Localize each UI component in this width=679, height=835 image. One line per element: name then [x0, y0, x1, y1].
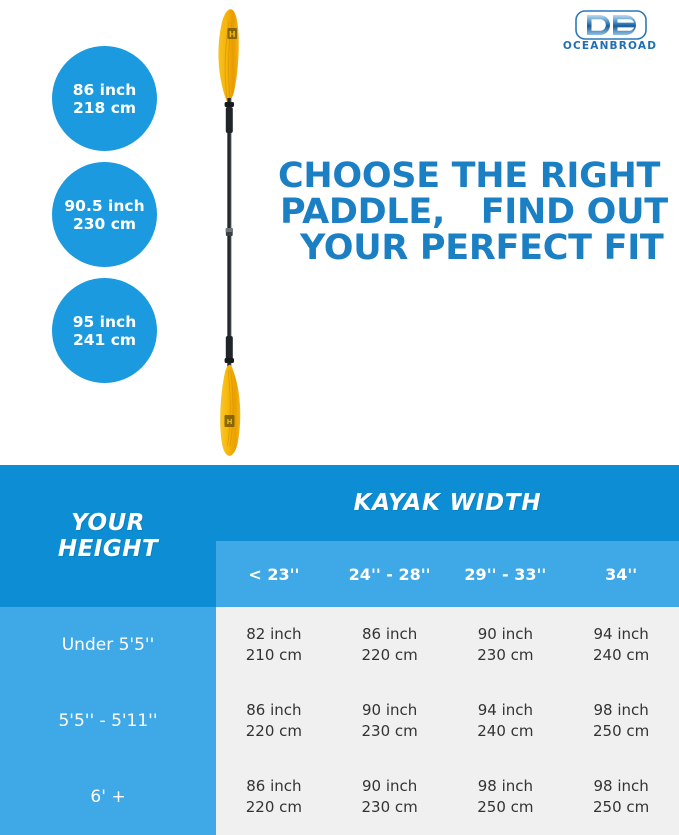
length-circle: 95 inch 241 cm: [52, 278, 157, 383]
paddle-length-cell: 90 inch 230 cm: [332, 759, 448, 835]
length-circle: 90.5 inch 230 cm: [52, 162, 157, 267]
paddle-length-cell: 86 inch 220 cm: [216, 759, 332, 835]
brand-name: OCEANBROAD: [557, 40, 663, 52]
width-column-header: 24'' - 28'': [332, 541, 448, 607]
height-range-label: Under 5'5'': [0, 607, 216, 683]
paddle-length-cell: 98 inch 250 cm: [563, 759, 679, 835]
paddle-length-cell: 82 inch 210 cm: [216, 607, 332, 683]
cell-inch: 86 inch: [216, 700, 332, 721]
table-header-row: YOUR HEIGHT KAYAK WIDTH: [0, 465, 679, 541]
cell-inch: 98 inch: [563, 700, 679, 721]
cell-cm: 240 cm: [448, 721, 564, 742]
svg-text:H: H: [227, 418, 233, 426]
cell-inch: 86 inch: [332, 624, 448, 645]
width-column-header: 34'': [563, 541, 679, 607]
cell-inch: 86 inch: [216, 776, 332, 797]
your-height-line-2: HEIGHT: [58, 536, 158, 562]
cell-cm: 230 cm: [332, 797, 448, 818]
cell-cm: 250 cm: [563, 797, 679, 818]
brand-logo: OCEANBROAD: [557, 10, 663, 56]
your-height-line-1: YOUR: [71, 510, 145, 536]
cell-inch: 94 inch: [563, 624, 679, 645]
cell-cm: 220 cm: [216, 797, 332, 818]
length-circle-cm: 218 cm: [73, 99, 136, 117]
paddle-length-cell: 90 inch 230 cm: [332, 683, 448, 759]
paddle-length-cell: 94 inch 240 cm: [448, 683, 564, 759]
headline-line-2: PADDLE, FIND OUT: [278, 194, 670, 230]
paddle-length-cell: 90 inch 230 cm: [448, 607, 564, 683]
kayak-width-header: KAYAK WIDTH: [216, 465, 679, 541]
cell-inch: 90 inch: [332, 700, 448, 721]
cell-cm: 240 cm: [563, 645, 679, 666]
paddle-length-cell: 98 inch 250 cm: [448, 759, 564, 835]
cell-inch: 82 inch: [216, 624, 332, 645]
table-row: 5'5'' - 5'11'' 86 inch 220 cm 90 inch 23…: [0, 683, 679, 759]
cell-cm: 230 cm: [448, 645, 564, 666]
cell-cm: 250 cm: [563, 721, 679, 742]
cell-cm: 230 cm: [332, 721, 448, 742]
cell-inch: 98 inch: [448, 776, 564, 797]
width-column-header: < 23'': [216, 541, 332, 607]
paddle-sizing-table: YOUR HEIGHT KAYAK WIDTH < 23'' 24'' - 28…: [0, 465, 679, 835]
page-title: CHOOSE THE RIGHT PADDLE, FIND OUT YOUR P…: [278, 158, 670, 266]
headline-line-1: CHOOSE THE RIGHT: [278, 158, 670, 194]
width-column-header: 29'' - 33'': [448, 541, 564, 607]
table-row: Under 5'5'' 82 inch 210 cm 86 inch 220 c…: [0, 607, 679, 683]
kayak-paddle-illustration: H H: [196, 6, 276, 456]
cell-inch: 90 inch: [332, 776, 448, 797]
length-circle-inch: 95 inch: [73, 313, 137, 331]
length-circle-inch: 86 inch: [73, 81, 137, 99]
length-circle-inch: 90.5 inch: [64, 197, 144, 215]
cell-inch: 94 inch: [448, 700, 564, 721]
cell-inch: 90 inch: [448, 624, 564, 645]
oceanbroad-monogram-icon: [575, 10, 647, 40]
length-circle-cm: 230 cm: [73, 215, 136, 233]
cell-inch: 98 inch: [563, 776, 679, 797]
headline-line-3: YOUR PERFECT FIT: [278, 230, 670, 266]
paddle-length-cell: 86 inch 220 cm: [332, 607, 448, 683]
cell-cm: 210 cm: [216, 645, 332, 666]
height-range-label: 6' +: [0, 759, 216, 835]
height-range-label: 5'5'' - 5'11'': [0, 683, 216, 759]
paddle-length-cell: 98 inch 250 cm: [563, 683, 679, 759]
length-circle-cm: 241 cm: [73, 331, 136, 349]
paddle-length-cell: 86 inch 220 cm: [216, 683, 332, 759]
table-row: 6' + 86 inch 220 cm 90 inch 230 cm 98 in…: [0, 759, 679, 835]
cell-cm: 220 cm: [216, 721, 332, 742]
cell-cm: 250 cm: [448, 797, 564, 818]
cell-cm: 220 cm: [332, 645, 448, 666]
svg-text:H: H: [229, 30, 236, 39]
length-circle: 86 inch 218 cm: [52, 46, 157, 151]
your-height-header: YOUR HEIGHT: [0, 465, 216, 607]
paddle-length-cell: 94 inch 240 cm: [563, 607, 679, 683]
